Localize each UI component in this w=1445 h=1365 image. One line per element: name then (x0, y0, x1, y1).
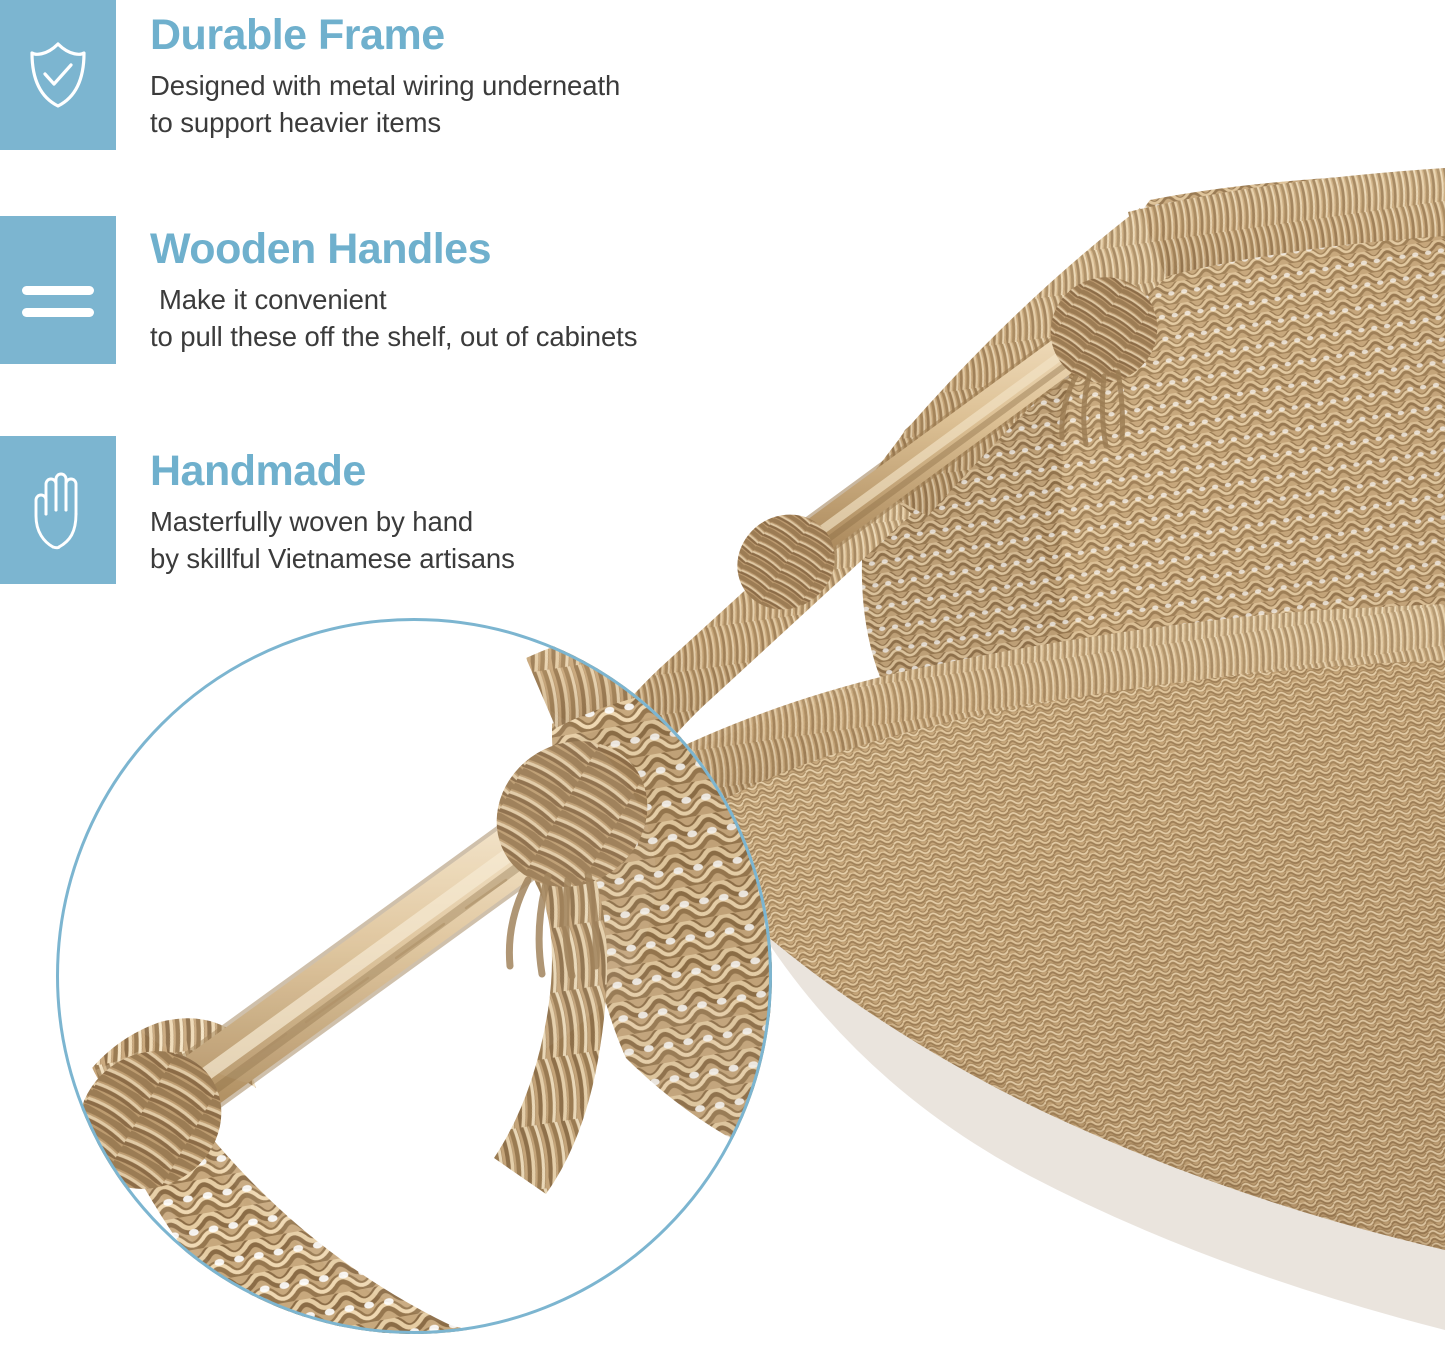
shield-check-icon (0, 0, 116, 150)
feature-body: Masterfully woven by hand by skillful Vi… (150, 493, 850, 578)
feature-text-block: Wooden Handles Make it convenient to pul… (150, 216, 850, 356)
feature-heading: Handmade (150, 436, 850, 493)
feature-text-block: Handmade Masterfully woven by hand by sk… (150, 436, 850, 578)
feature-body: Designed with metal wiring underneath to… (150, 57, 850, 142)
handle-closeup-circle (56, 618, 772, 1334)
feature-body-line: Designed with metal wiring underneath (150, 67, 850, 104)
feature-text-block: Durable Frame Designed with metal wiring… (150, 0, 850, 142)
two-bars-handles-icon (0, 216, 116, 364)
feature-list: Durable Frame Designed with metal wiring… (0, 0, 860, 600)
feature-heading: Durable Frame (150, 0, 850, 57)
feature-body-line: to support heavier items (150, 104, 850, 141)
feature-body-line: to pull these off the shelf, out of cabi… (150, 318, 850, 355)
feature-body-line: by skillful Vietnamese artisans (150, 540, 850, 577)
feature-body: Make it convenient to pull these off the… (150, 271, 850, 356)
feature-body-line: Make it convenient (150, 281, 850, 318)
feature-body-line: Masterfully woven by hand (150, 503, 850, 540)
feature-heading: Wooden Handles (150, 216, 850, 271)
open-hand-icon (0, 436, 116, 584)
